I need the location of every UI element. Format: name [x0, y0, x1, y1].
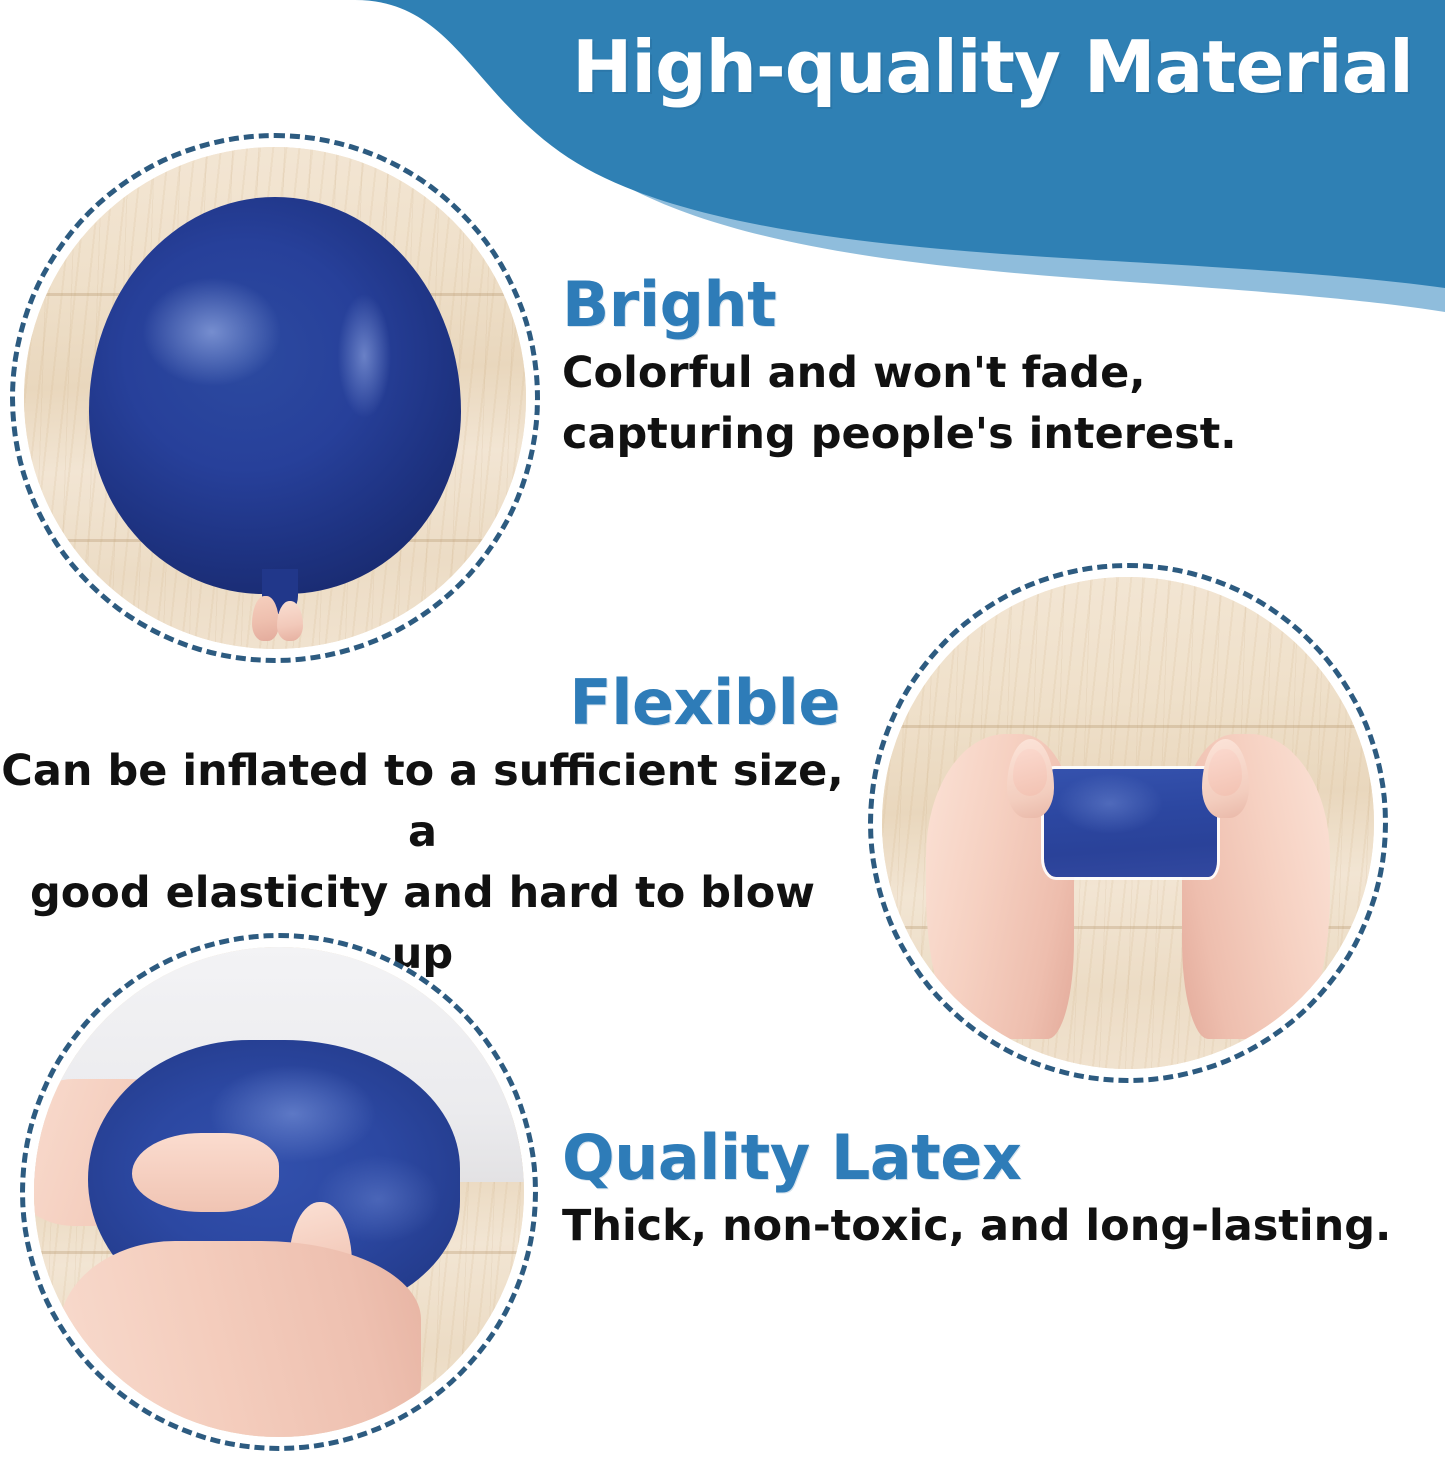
feature-image-flexible: [868, 563, 1388, 1083]
photo-inner-bright: [24, 147, 526, 649]
feature-image-bright: [10, 133, 540, 663]
fingertip: [252, 596, 278, 641]
hand-lower: [59, 1241, 422, 1437]
feature-heading-quality-latex: Quality Latex: [562, 1125, 1442, 1192]
feature-text-bright: Bright Colorful and won't fade, capturin…: [562, 272, 1442, 465]
feature-text-flexible: Flexible Can be inflated to a sufficient…: [0, 670, 845, 985]
fingernail: [1208, 749, 1242, 796]
feature-body-line: Can be inflated to a sufficient size, a: [0, 741, 845, 863]
photo-inner-quality-latex: [34, 947, 524, 1437]
feature-image-quality-latex: [20, 933, 538, 1451]
feature-heading-flexible: Flexible: [0, 670, 845, 737]
feature-body-line: Colorful and won't fade,: [562, 343, 1442, 404]
squeezing-fingers: [132, 1133, 279, 1211]
feature-body-bright: Colorful and won't fade, capturing peopl…: [562, 343, 1442, 465]
infographic-page: High-quality Material Bright Colorful an…: [0, 0, 1445, 1468]
wood-seam: [882, 725, 1374, 728]
page-title: High-quality Material: [540, 30, 1445, 106]
feature-body-quality-latex: Thick, non-toxic, and long-lasting.: [562, 1196, 1442, 1257]
photo-inner-flexible: [882, 577, 1374, 1069]
feature-text-quality-latex: Quality Latex Thick, non-toxic, and long…: [562, 1125, 1442, 1257]
stretched-latex-band: [1044, 769, 1216, 877]
feature-body-line: capturing people's interest.: [562, 404, 1442, 465]
feature-body-line: Thick, non-toxic, and long-lasting.: [562, 1196, 1442, 1257]
fingertip: [277, 601, 303, 641]
fingernail: [1013, 749, 1047, 796]
feature-heading-bright: Bright: [562, 272, 1442, 339]
